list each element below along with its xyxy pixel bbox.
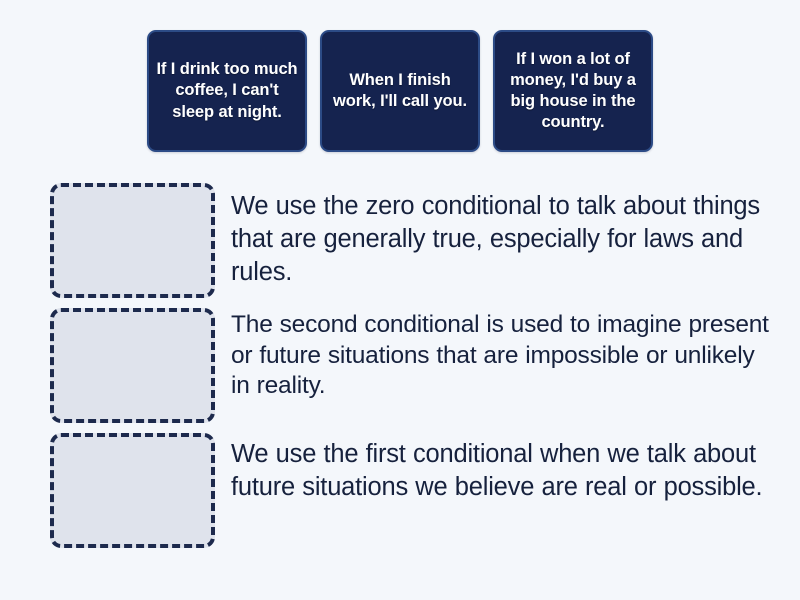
prompt-text-3: We use the first conditional when we tal… bbox=[215, 433, 800, 504]
dropzone-3[interactable] bbox=[50, 433, 215, 548]
match-row: We use the first conditional when we tal… bbox=[0, 433, 800, 548]
dropzone-2[interactable] bbox=[50, 308, 215, 423]
draggable-tile-3[interactable]: If I won a lot of money, I'd buy a big h… bbox=[493, 30, 653, 152]
match-row: The second conditional is used to imagin… bbox=[0, 308, 800, 423]
match-row: We use the zero conditional to talk abou… bbox=[0, 183, 800, 298]
draggable-tile-2-label: When I finish work, I'll call you. bbox=[322, 70, 478, 112]
dropzone-1[interactable] bbox=[50, 183, 215, 298]
draggable-tile-1-label: If I drink too much coffee, I can't slee… bbox=[149, 59, 305, 122]
prompt-text-1: We use the zero conditional to talk abou… bbox=[215, 183, 800, 289]
draggable-tile-3-label: If I won a lot of money, I'd buy a big h… bbox=[495, 49, 651, 133]
draggable-tile-2[interactable]: When I finish work, I'll call you. bbox=[320, 30, 480, 152]
draggable-tile-1[interactable]: If I drink too much coffee, I can't slee… bbox=[147, 30, 307, 152]
match-rows-list: We use the zero conditional to talk abou… bbox=[0, 183, 800, 558]
draggable-tiles-row: If I drink too much coffee, I can't slee… bbox=[0, 0, 800, 178]
prompt-text-2: The second conditional is used to imagin… bbox=[215, 308, 800, 402]
